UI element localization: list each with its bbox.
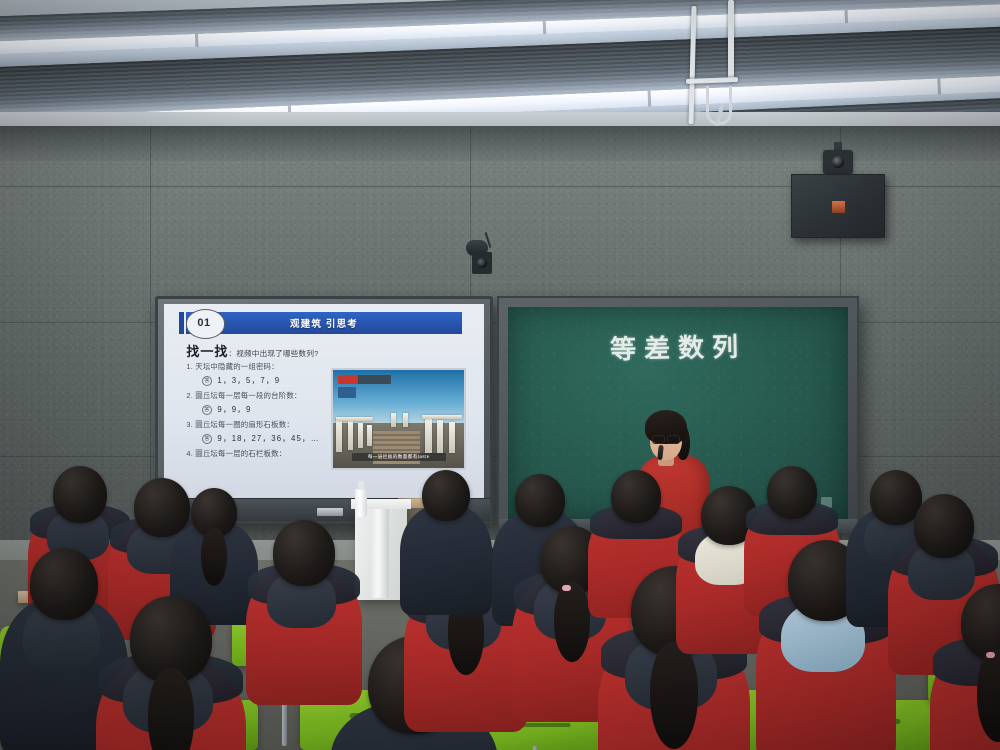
answer-mark-icon: 答 bbox=[202, 376, 212, 386]
hand-sanitizer-bottle bbox=[355, 489, 367, 517]
slide-number-badge: 01 bbox=[178, 309, 229, 337]
hair-tie bbox=[986, 652, 995, 658]
student-ponytail bbox=[148, 668, 194, 750]
video-logo-tag bbox=[338, 387, 355, 398]
answer-text: 1，3，5，7，9 bbox=[217, 376, 280, 385]
video-subtitle-bar: 每一层栏板的数量都有taste bbox=[352, 453, 446, 461]
student-head bbox=[30, 548, 98, 620]
chalkboard-handwriting: 等差数列 bbox=[508, 325, 849, 369]
answer-text: 9，18，27，36，45，… bbox=[217, 434, 319, 443]
item-number: 1. bbox=[186, 362, 193, 371]
item-text: 圜丘坛每一圈的扇形石板数： bbox=[195, 420, 294, 429]
student-uniform bbox=[400, 505, 492, 615]
slide-question: 找一找：视频中出现了哪些数列? bbox=[186, 341, 318, 360]
surveillance-camera-icon bbox=[823, 150, 853, 174]
slide-question-main: 找一找 bbox=[186, 344, 228, 359]
ceiling bbox=[0, 0, 1000, 132]
student-ponytail bbox=[201, 528, 227, 586]
teacher-glasses bbox=[652, 435, 680, 442]
answer-mark-icon: 答 bbox=[202, 434, 212, 444]
student bbox=[400, 470, 492, 628]
badge-accent-bar bbox=[179, 312, 184, 333]
student-head bbox=[53, 466, 107, 523]
answer-mark-icon: 答 bbox=[202, 405, 212, 415]
student-head bbox=[914, 494, 974, 558]
video-channel-tag bbox=[338, 375, 390, 384]
student-head bbox=[515, 474, 565, 527]
slide-video-thumbnail[interactable]: 每一层栏板的数量都有taste bbox=[331, 368, 466, 470]
wall-camera bbox=[472, 252, 492, 274]
student-head bbox=[611, 470, 661, 523]
video-caption: 每一层栏板的数量都有taste bbox=[352, 453, 446, 460]
item-number: 3. bbox=[186, 420, 193, 429]
item-text: 圜丘坛每一层每一段的台阶数： bbox=[195, 391, 301, 400]
speaker-indicator-icon bbox=[832, 201, 845, 213]
smartboard-logo bbox=[317, 508, 343, 516]
item-number: 2. bbox=[186, 391, 193, 400]
ceiling-microphone-boom bbox=[728, 0, 734, 82]
answer-text: 9，9，9 bbox=[217, 405, 251, 414]
slide-number: 01 bbox=[197, 317, 210, 329]
student-head bbox=[273, 520, 335, 586]
wall-speaker bbox=[791, 174, 885, 238]
student bbox=[96, 596, 246, 750]
student-ponytail bbox=[554, 582, 590, 662]
classroom-photo: 观建筑 引思考 01 找一找：视频中出现了哪些数列? 1. 天坛中隐藏的一组密码… bbox=[0, 0, 1000, 750]
hair-tie bbox=[562, 585, 571, 591]
item-text: 圜丘坛每一层的石栏板数： bbox=[195, 449, 286, 458]
lectern-column bbox=[371, 503, 389, 598]
student bbox=[930, 584, 1000, 750]
slide-question-sub: ：视频中出现了哪些数列? bbox=[228, 349, 318, 358]
student-head bbox=[767, 466, 817, 519]
chair-leg bbox=[533, 746, 538, 750]
student-head bbox=[422, 470, 470, 521]
item-number: 4. bbox=[186, 449, 193, 458]
item-text: 天坛中隐藏的一组密码： bbox=[195, 362, 279, 371]
